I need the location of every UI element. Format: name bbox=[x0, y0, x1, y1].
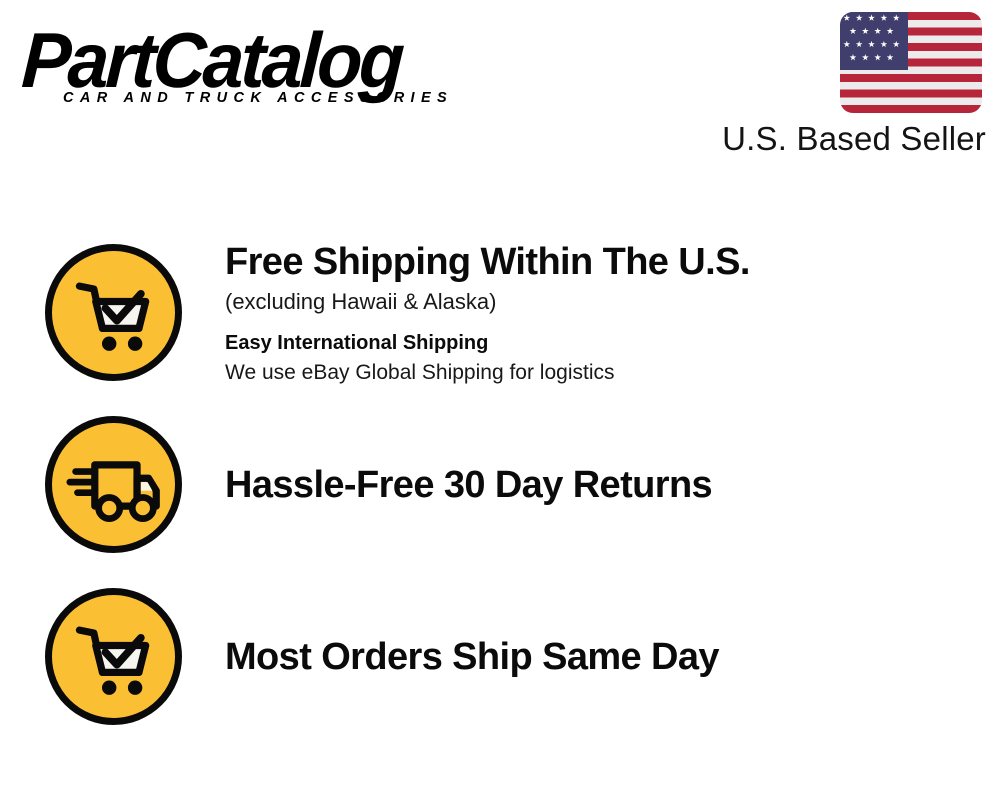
feature-title: Hassle-Free 30 Day Returns bbox=[225, 462, 980, 508]
brand-tagline: CAR AND TRUCK ACCESSORIES bbox=[63, 90, 453, 106]
flag-star bbox=[856, 41, 863, 48]
feature-row: Most Orders Ship Same Day bbox=[0, 569, 1000, 744]
feature-text: Hassle-Free 30 Day Returns bbox=[225, 462, 1000, 508]
flag-star bbox=[862, 54, 869, 61]
flag-star bbox=[887, 28, 894, 35]
flag-star bbox=[868, 14, 875, 21]
flag-star bbox=[849, 28, 856, 35]
flag-star bbox=[868, 41, 875, 48]
feature-secondary-subtitle: We use eBay Global Shipping for logistic… bbox=[225, 358, 980, 387]
flag-star bbox=[880, 14, 887, 21]
feature-text: Free Shipping Within The U.S. (excluding… bbox=[225, 239, 1000, 387]
feature-subtitle: (excluding Hawaii & Alaska) bbox=[225, 287, 980, 317]
flag-star bbox=[849, 54, 856, 61]
flag-star bbox=[893, 41, 900, 48]
flag-star bbox=[874, 28, 881, 35]
feature-title: Most Orders Ship Same Day bbox=[225, 634, 980, 680]
feature-title: Free Shipping Within The U.S. bbox=[225, 239, 980, 285]
feature-row: Free Shipping Within The U.S. (excluding… bbox=[0, 225, 1000, 400]
us-flag-icon bbox=[840, 12, 982, 113]
header-banner: PartCatalog CAR AND TRUCK ACCESSORIES U.… bbox=[0, 0, 1000, 170]
flag-canton bbox=[840, 12, 908, 70]
flag-star bbox=[862, 28, 869, 35]
delivery-truck-icon bbox=[45, 416, 182, 553]
flag-star bbox=[893, 14, 900, 21]
flag-star bbox=[843, 14, 850, 21]
us-based-seller-label: U.S. Based Seller bbox=[722, 120, 986, 158]
flag-star bbox=[843, 41, 850, 48]
feature-secondary-title: Easy International Shipping bbox=[225, 329, 980, 357]
flag-star bbox=[880, 41, 887, 48]
shopping-cart-check-icon bbox=[45, 588, 182, 725]
flag-star bbox=[874, 54, 881, 61]
brand-logo[interactable]: PartCatalog CAR AND TRUCK ACCESSORIES bbox=[22, 18, 492, 116]
flag-star bbox=[856, 14, 863, 21]
us-based-seller-badge: U.S. Based Seller bbox=[716, 10, 986, 160]
feature-row: Hassle-Free 30 Day Returns bbox=[0, 397, 1000, 572]
feature-text: Most Orders Ship Same Day bbox=[225, 634, 1000, 680]
flag-star bbox=[887, 54, 894, 61]
shopping-cart-check-icon bbox=[45, 244, 182, 381]
